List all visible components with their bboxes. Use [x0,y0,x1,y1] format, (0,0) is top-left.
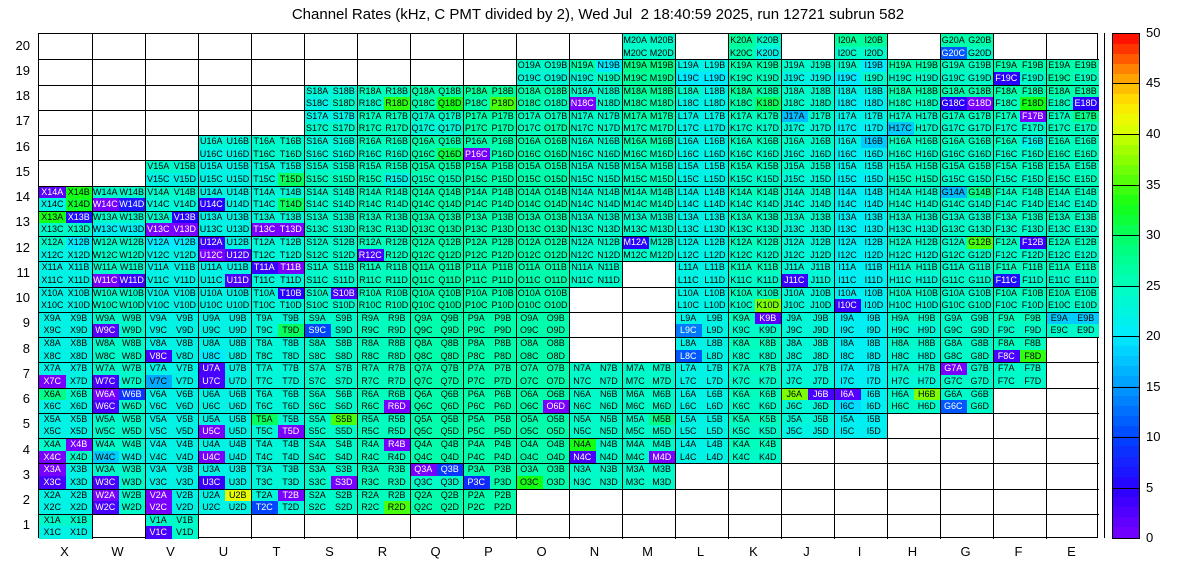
heatmap-cell[interactable]: X4B [66,438,93,451]
heatmap-cell[interactable]: R3A [357,463,384,476]
heatmap-cell[interactable]: J18A [781,85,808,98]
heatmap-cell[interactable]: V7D [172,375,199,388]
heatmap-cell[interactable]: T15B [278,160,305,173]
heatmap-cell[interactable]: T3B [278,463,305,476]
heatmap-cell[interactable]: M13C [622,223,649,236]
heatmap-cell[interactable]: Q13B [437,211,464,224]
heatmap-cell[interactable]: Q8A [410,337,437,350]
heatmap-cell[interactable]: X12C [39,249,66,262]
heatmap-cell[interactable]: S14D [331,198,358,211]
heatmap-cell[interactable]: Q4B [437,438,464,451]
heatmap-cell[interactable]: L17C [675,122,702,135]
heatmap-cell[interactable]: F13A [993,211,1020,224]
heatmap-cell[interactable]: W5A [92,413,119,426]
heatmap-cell[interactable]: J6B [808,388,835,401]
heatmap-cell[interactable]: G13A [940,211,967,224]
heatmap-cell[interactable]: G15C [940,173,967,186]
heatmap-cell[interactable]: W11C [92,274,119,287]
heatmap-cell[interactable]: G12D [967,249,994,262]
heatmap-cell[interactable]: S12B [331,236,358,249]
heatmap-cell[interactable]: S12D [331,249,358,262]
heatmap-cell[interactable]: H8A [887,337,914,350]
heatmap-cell[interactable]: S6A [304,388,331,401]
heatmap-cell[interactable]: V5C [145,425,172,438]
heatmap-cell[interactable]: I18A [834,85,861,98]
heatmap-cell[interactable]: I12A [834,236,861,249]
heatmap-cell[interactable]: Q13A [410,211,437,224]
heatmap-cell[interactable]: P9C [463,324,490,337]
heatmap-cell[interactable]: O15B [543,160,570,173]
heatmap-cell[interactable]: N3C [569,476,596,489]
heatmap-cell[interactable]: M4B [649,438,676,451]
heatmap-cell[interactable]: U6D [225,400,252,413]
heatmap-cell[interactable]: W7A [92,362,119,375]
heatmap-cell[interactable]: K7D [755,375,782,388]
heatmap-cell[interactable]: V11B [172,261,199,274]
heatmap-cell[interactable]: R7B [384,362,411,375]
heatmap-cell[interactable]: P7B [490,362,517,375]
heatmap-cell[interactable]: F9C [993,324,1020,337]
heatmap-cell[interactable]: N17C [569,122,596,135]
heatmap-cell[interactable]: H7D [914,375,941,388]
heatmap-cell[interactable]: K16A [728,135,755,148]
heatmap-cell[interactable]: O11B [543,261,570,274]
heatmap-cell[interactable]: K13D [755,223,782,236]
heatmap-cell[interactable]: W13D [119,223,146,236]
heatmap-cell[interactable]: K10A [728,287,755,300]
heatmap-cell[interactable]: X9C [39,324,66,337]
heatmap-cell[interactable]: E12C [1046,249,1073,262]
heatmap-cell[interactable]: Q5A [410,413,437,426]
heatmap-cell[interactable]: V14A [145,186,172,199]
heatmap-cell[interactable]: U16D [225,148,252,161]
heatmap-cell[interactable]: R9A [357,312,384,325]
heatmap-cell[interactable]: T10A [251,287,278,300]
heatmap-cell[interactable]: I18D [861,97,888,110]
heatmap-cell[interactable]: S14B [331,186,358,199]
heatmap-cell[interactable]: Q18C [410,97,437,110]
heatmap-cell[interactable]: U3B [225,463,252,476]
heatmap-cell[interactable]: T2C [251,501,278,514]
heatmap-cell[interactable]: K16D [755,148,782,161]
heatmap-cell[interactable]: G12A [940,236,967,249]
heatmap-cell[interactable]: X12A [39,236,66,249]
heatmap-cell[interactable]: X1B [66,514,93,527]
heatmap-cell[interactable]: W11A [92,261,119,274]
heatmap-cell[interactable]: M6C [622,400,649,413]
heatmap-cell[interactable]: E19A [1046,59,1073,72]
heatmap-cell[interactable]: S15B [331,160,358,173]
heatmap-cell[interactable]: V2B [172,489,199,502]
heatmap-cell[interactable]: O18B [543,85,570,98]
heatmap-cell[interactable]: H6A [887,388,914,401]
heatmap-cell[interactable]: Q4D [437,451,464,464]
heatmap-cell[interactable]: P17A [463,110,490,123]
heatmap-cell[interactable]: W10A [92,287,119,300]
heatmap-cell[interactable]: F10C [993,299,1020,312]
heatmap-cell[interactable]: J16C [781,148,808,161]
heatmap-cell[interactable]: O3D [543,476,570,489]
heatmap-cell[interactable]: O15A [516,160,543,173]
heatmap-cell[interactable]: M19A [622,59,649,72]
heatmap-cell[interactable]: S17D [331,122,358,135]
heatmap-cell[interactable]: X7C [39,375,66,388]
heatmap-cell[interactable]: K7A [728,362,755,375]
heatmap-cell[interactable]: E16C [1046,148,1073,161]
heatmap-cell[interactable]: Q10A [410,287,437,300]
heatmap-cell[interactable]: S7D [331,375,358,388]
heatmap-cell[interactable]: P12C [463,249,490,262]
heatmap-cell[interactable]: M19C [622,72,649,85]
heatmap-cell[interactable]: F17A [993,110,1020,123]
heatmap-cell[interactable]: O9B [543,312,570,325]
heatmap-cell[interactable]: O16C [516,148,543,161]
heatmap-cell[interactable]: E16D [1073,148,1100,161]
heatmap-cell[interactable]: X13C [39,223,66,236]
heatmap-cell[interactable]: X10C [39,299,66,312]
heatmap-cell[interactable]: T15C [251,173,278,186]
heatmap-cell[interactable]: Q18A [410,85,437,98]
heatmap-cell[interactable]: K9A [728,312,755,325]
heatmap-cell[interactable]: E12D [1073,249,1100,262]
heatmap-cell[interactable]: Q7C [410,375,437,388]
heatmap-cell[interactable]: P8D [490,350,517,363]
heatmap-cell[interactable]: L10A [675,287,702,300]
heatmap-cell[interactable]: K4B [755,438,782,451]
heatmap-cell[interactable]: U12C [198,249,225,262]
heatmap-cell[interactable]: G15A [940,160,967,173]
heatmap-cell[interactable]: K7B [755,362,782,375]
heatmap-cell[interactable]: X1D [66,526,93,539]
heatmap-cell[interactable]: X4C [39,451,66,464]
heatmap-cell[interactable]: M5A [622,413,649,426]
heatmap-cell[interactable]: U10C [198,299,225,312]
heatmap-cell[interactable]: L7D [702,375,729,388]
heatmap-cell[interactable]: H11C [887,274,914,287]
heatmap-cell[interactable]: R12B [384,236,411,249]
heatmap-cell[interactable]: O5A [516,413,543,426]
heatmap-cell[interactable]: X4A [39,438,66,451]
heatmap-cell[interactable]: Q8D [437,350,464,363]
heatmap-cell[interactable]: M4D [649,451,676,464]
heatmap-cell[interactable]: V12C [145,249,172,262]
heatmap-cell[interactable]: I20C [834,47,861,60]
heatmap-cell[interactable]: W5B [119,413,146,426]
heatmap-cell[interactable]: G8B [967,337,994,350]
heatmap-cell[interactable]: S11B [331,261,358,274]
heatmap-cell[interactable]: G9D [967,324,994,337]
heatmap-cell[interactable]: T8B [278,337,305,350]
heatmap-cell[interactable]: H6D [914,400,941,413]
heatmap-cell[interactable]: M14B [649,186,676,199]
heatmap-cell[interactable]: J5A [781,413,808,426]
heatmap-cell[interactable]: H18A [887,85,914,98]
heatmap-cell[interactable]: T5A [251,413,278,426]
heatmap-cell[interactable]: K8B [755,337,782,350]
heatmap-cell[interactable]: G14A [940,186,967,199]
heatmap-cell[interactable]: I15A [834,160,861,173]
heatmap-cell[interactable]: Q6A [410,388,437,401]
heatmap-cell[interactable]: L12A [675,236,702,249]
heatmap-cell[interactable]: R5D [384,425,411,438]
heatmap-cell[interactable]: Q17C [410,122,437,135]
heatmap-cell[interactable]: S3C [304,476,331,489]
heatmap-cell[interactable]: E17D [1073,122,1100,135]
heatmap-cell[interactable]: H6B [914,388,941,401]
heatmap-cell[interactable]: M14C [622,198,649,211]
heatmap-cell[interactable]: J14D [808,198,835,211]
heatmap-cell[interactable]: U14D [225,198,252,211]
heatmap-cell[interactable]: G10C [940,299,967,312]
heatmap-cell[interactable]: Q2C [410,501,437,514]
heatmap-cell[interactable]: Q14C [410,198,437,211]
heatmap-cell[interactable]: H14B [914,186,941,199]
heatmap-cell[interactable]: L13A [675,211,702,224]
heatmap-cell[interactable]: G17A [940,110,967,123]
heatmap-cell[interactable]: Q17D [437,122,464,135]
heatmap-cell[interactable]: P7A [463,362,490,375]
heatmap-cell[interactable]: Q14A [410,186,437,199]
heatmap-cell[interactable]: J7B [808,362,835,375]
heatmap-cell[interactable]: P2D [490,501,517,514]
heatmap-cell[interactable]: F14A [993,186,1020,199]
heatmap-cell[interactable]: E10A [1046,287,1073,300]
heatmap-cell[interactable]: V13B [172,211,199,224]
heatmap-cell[interactable]: L5A [675,413,702,426]
heatmap-cell[interactable]: M17A [622,110,649,123]
heatmap-cell[interactable]: V14C [145,198,172,211]
heatmap-cell[interactable]: K10B [755,287,782,300]
heatmap-cell[interactable]: O18D [543,97,570,110]
heatmap-cell[interactable]: N16D [596,148,623,161]
heatmap-cell[interactable]: L16C [675,148,702,161]
heatmap-cell[interactable]: X13B [66,211,93,224]
heatmap-cell[interactable]: O18A [516,85,543,98]
heatmap-cell[interactable]: O14D [543,198,570,211]
heatmap-cell[interactable]: X10A [39,287,66,300]
heatmap-cell[interactable]: U8C [198,350,225,363]
heatmap-cell[interactable]: M18B [649,85,676,98]
heatmap-cell[interactable]: X1A [39,514,66,527]
heatmap-cell[interactable]: U11B [225,261,252,274]
heatmap-cell[interactable]: X9D [66,324,93,337]
heatmap-cell[interactable]: O17B [543,110,570,123]
heatmap-cell[interactable]: G9C [940,324,967,337]
heatmap-cell[interactable]: W2B [119,489,146,502]
heatmap-cell[interactable]: S16B [331,135,358,148]
heatmap-cell[interactable]: V4C [145,451,172,464]
heatmap-cell[interactable]: T2B [278,489,305,502]
heatmap-cell[interactable]: E13B [1073,211,1100,224]
heatmap-cell[interactable]: S11C [304,274,331,287]
heatmap-cell[interactable]: T16B [278,135,305,148]
heatmap-cell[interactable]: W11B [119,261,146,274]
heatmap-cell[interactable]: F14C [993,198,1020,211]
heatmap-cell[interactable]: H17B [914,110,941,123]
heatmap-cell[interactable]: O8D [543,350,570,363]
heatmap-cell[interactable]: P13C [463,223,490,236]
heatmap-cell[interactable]: W9C [92,324,119,337]
heatmap-cell[interactable]: J18C [781,97,808,110]
heatmap-cell[interactable]: U3D [225,476,252,489]
heatmap-cell[interactable]: T9B [278,312,305,325]
heatmap-cell[interactable]: W12D [119,249,146,262]
heatmap-cell[interactable]: F12D [1020,249,1047,262]
heatmap-cell[interactable]: O6D [543,400,570,413]
heatmap-cell[interactable]: G7C [940,375,967,388]
heatmap-cell[interactable]: S13C [304,223,331,236]
heatmap-cell[interactable]: I15C [834,173,861,186]
heatmap-cell[interactable]: L17B [702,110,729,123]
heatmap-cell[interactable]: S11D [331,274,358,287]
heatmap-cell[interactable]: M20C [622,47,649,60]
heatmap-cell[interactable]: J19B [808,59,835,72]
heatmap-cell[interactable]: V9B [172,312,199,325]
heatmap-cell[interactable]: K5A [728,413,755,426]
heatmap-cell[interactable]: G7B [967,362,994,375]
heatmap-cell[interactable]: F7D [1020,375,1047,388]
heatmap-cell[interactable]: E9D [1073,324,1100,337]
heatmap-cell[interactable]: F11A [993,261,1020,274]
heatmap-cell[interactable]: E11D [1073,274,1100,287]
heatmap-cell[interactable]: G16B [967,135,994,148]
heatmap-cell[interactable]: N15A [569,160,596,173]
heatmap-cell[interactable]: F7C [993,375,1020,388]
heatmap-cell[interactable]: L4B [702,438,729,451]
heatmap-cell[interactable]: N12A [569,236,596,249]
heatmap-cell[interactable]: L7B [702,362,729,375]
heatmap-cell[interactable]: S13D [331,223,358,236]
heatmap-cell[interactable]: O14B [543,186,570,199]
heatmap-cell[interactable]: S4D [331,451,358,464]
heatmap-cell[interactable]: X2D [66,501,93,514]
heatmap-cell[interactable]: F18D [1020,97,1047,110]
heatmap-cell[interactable]: O10C [516,299,543,312]
heatmap-cell[interactable]: X1C [39,526,66,539]
heatmap-cell[interactable]: U9C [198,324,225,337]
heatmap-cell[interactable]: S16D [331,148,358,161]
heatmap-cell[interactable]: L12B [702,236,729,249]
heatmap-cell[interactable]: G6B [967,388,994,401]
heatmap-cell[interactable]: L19D [702,72,729,85]
heatmap-cell[interactable]: P8A [463,337,490,350]
heatmap-cell[interactable]: O16B [543,135,570,148]
heatmap-cell[interactable]: G16A [940,135,967,148]
heatmap-cell[interactable]: F19D [1020,72,1047,85]
heatmap-cell[interactable]: J7C [781,375,808,388]
heatmap-cell[interactable]: M13A [622,211,649,224]
heatmap-cell[interactable]: X13A [39,211,66,224]
heatmap-cell[interactable]: K12A [728,236,755,249]
heatmap-cell[interactable]: O19C [516,72,543,85]
heatmap-cell[interactable]: I20B [861,34,888,47]
heatmap-cell[interactable]: K5D [755,425,782,438]
heatmap-cell[interactable]: O7B [543,362,570,375]
heatmap-cell[interactable]: K15B [755,160,782,173]
heatmap-cell[interactable]: L14B [702,186,729,199]
heatmap-cell[interactable]: R14B [384,186,411,199]
heatmap-cell[interactable]: N11D [596,274,623,287]
heatmap-cell[interactable]: T4A [251,438,278,451]
heatmap-cell[interactable]: X11A [39,261,66,274]
heatmap-cell[interactable]: O8C [516,350,543,363]
heatmap-cell[interactable]: X13D [66,223,93,236]
heatmap-cell[interactable]: S7B [331,362,358,375]
heatmap-cell[interactable]: K6D [755,400,782,413]
heatmap-cell[interactable]: G20A [940,34,967,47]
heatmap-cell[interactable]: M6A [622,388,649,401]
heatmap-cell[interactable]: P5A [463,413,490,426]
heatmap-cell[interactable]: L13D [702,223,729,236]
heatmap-cell[interactable]: L16B [702,135,729,148]
heatmap-cell[interactable]: S14C [304,198,331,211]
heatmap-cell[interactable]: G19D [967,72,994,85]
heatmap-cell[interactable]: W2A [92,489,119,502]
heatmap-cell[interactable]: U8D [225,350,252,363]
heatmap-cell[interactable]: P16A [463,135,490,148]
heatmap-cell[interactable]: S3A [304,463,331,476]
heatmap-cell[interactable]: R17C [357,122,384,135]
heatmap-cell[interactable]: W5D [119,425,146,438]
heatmap-cell[interactable]: Q3B [437,463,464,476]
heatmap-cell[interactable]: F8A [993,337,1020,350]
heatmap-cell[interactable]: U6B [225,388,252,401]
heatmap-cell[interactable]: S6D [331,400,358,413]
heatmap-cell[interactable]: N5A [569,413,596,426]
heatmap-cell[interactable]: L6B [702,388,729,401]
heatmap-cell[interactable]: T6A [251,388,278,401]
heatmap-cell[interactable]: M3B [649,463,676,476]
heatmap-cell[interactable]: R12C [357,249,384,262]
heatmap-cell[interactable]: X7B [66,362,93,375]
heatmap-cell[interactable]: J11C [781,274,808,287]
heatmap-cell[interactable]: P15B [490,160,517,173]
heatmap-cell[interactable]: H14D [914,198,941,211]
heatmap-cell[interactable]: T7C [251,375,278,388]
heatmap-cell[interactable]: K18A [728,85,755,98]
heatmap-cell[interactable]: S17B [331,110,358,123]
heatmap-cell[interactable]: Q9B [437,312,464,325]
heatmap-cell[interactable]: U13B [225,211,252,224]
heatmap-cell[interactable]: P17D [490,122,517,135]
heatmap-cell[interactable]: I11D [861,274,888,287]
heatmap-cell[interactable]: J6D [808,400,835,413]
heatmap-cell[interactable]: V8C [145,350,172,363]
heatmap-cell[interactable]: U12A [198,236,225,249]
heatmap-cell[interactable]: L18D [702,97,729,110]
heatmap-cell[interactable]: U6C [198,400,225,413]
heatmap-cell[interactable]: N19D [596,72,623,85]
heatmap-cell[interactable]: X14C [39,198,66,211]
heatmap-cell[interactable]: H9A [887,312,914,325]
heatmap-cell[interactable]: O17C [516,122,543,135]
heatmap-cell[interactable]: W6A [92,388,119,401]
heatmap-cell[interactable]: E14C [1046,198,1073,211]
heatmap-cell[interactable]: F16C [993,148,1020,161]
heatmap-cell[interactable]: M15A [622,160,649,173]
heatmap-cell[interactable]: K12D [755,249,782,262]
heatmap-cell[interactable]: M7A [622,362,649,375]
heatmap-cell[interactable]: M13B [649,211,676,224]
heatmap-cell[interactable]: N3B [596,463,623,476]
heatmap-cell[interactable]: T3A [251,463,278,476]
heatmap-cell[interactable]: V11A [145,261,172,274]
heatmap-cell[interactable]: F15A [993,160,1020,173]
heatmap-cell[interactable]: V6C [145,400,172,413]
heatmap-cell[interactable]: J8A [781,337,808,350]
heatmap-cell[interactable]: E14D [1073,198,1100,211]
heatmap-cell[interactable]: N19B [596,59,623,72]
